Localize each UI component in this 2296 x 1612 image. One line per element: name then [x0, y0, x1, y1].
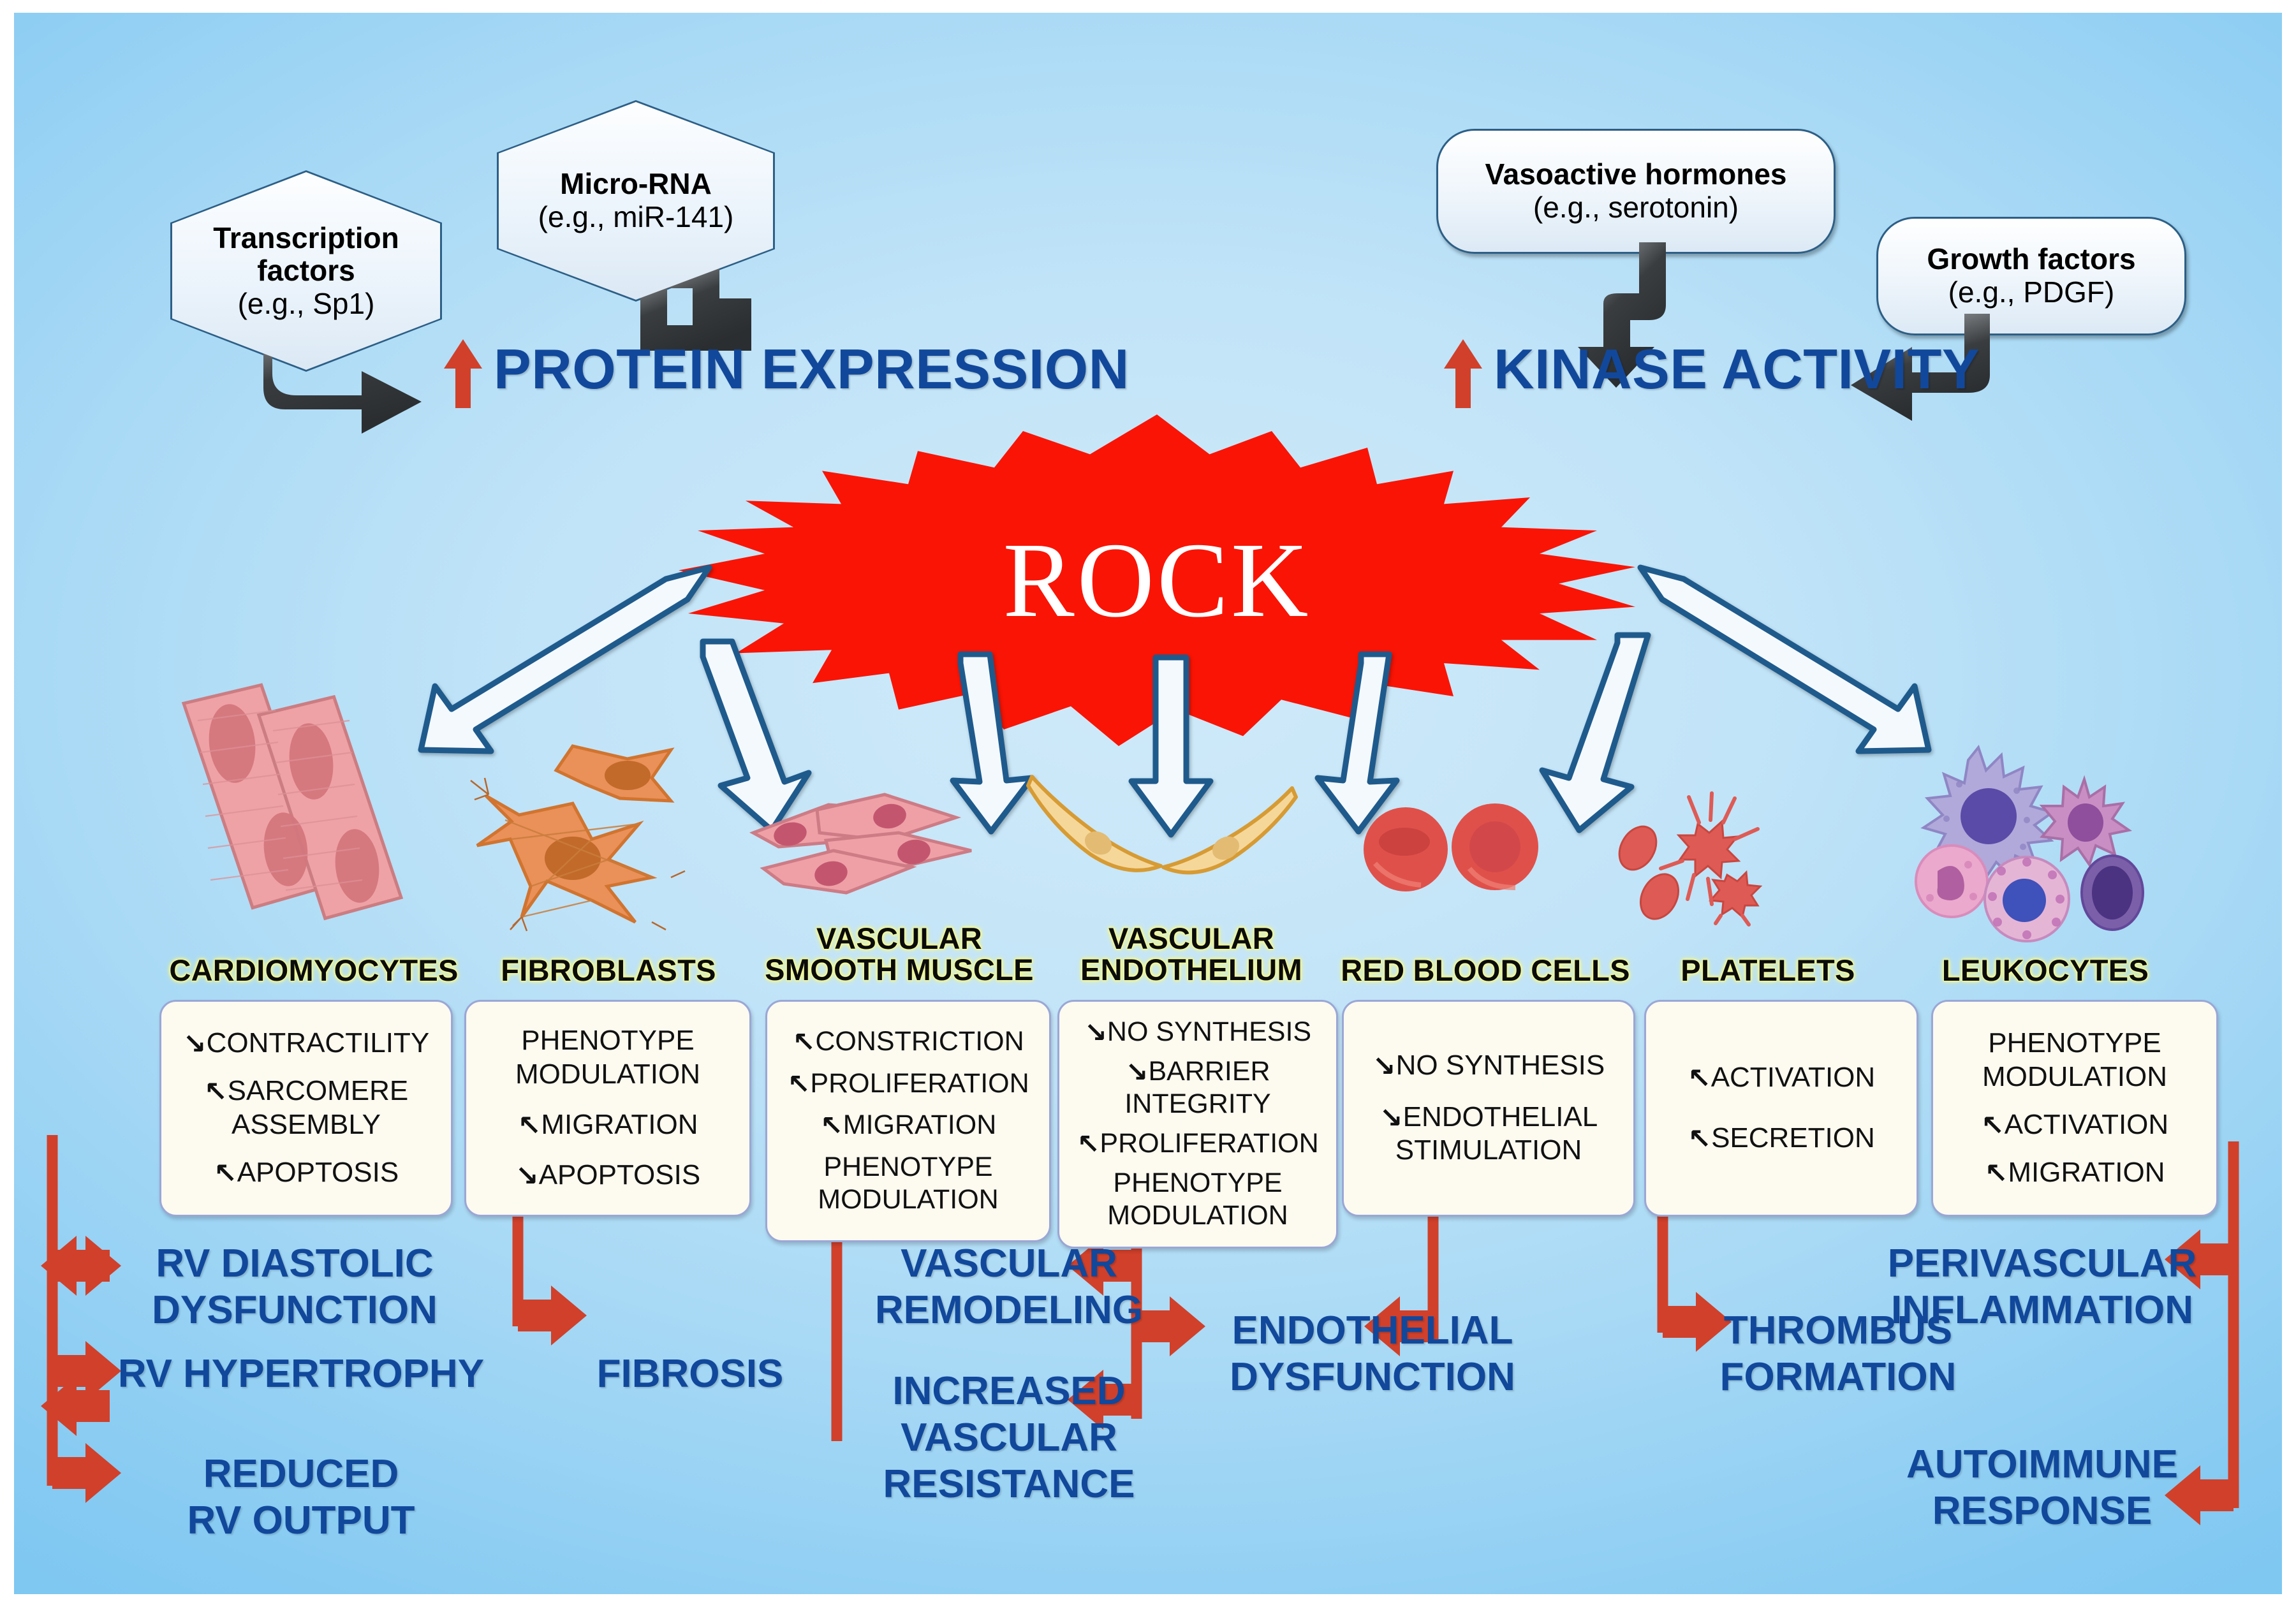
- red-blood-cells-illustration: [1360, 797, 1551, 905]
- effect-box-cardiomyocytes[interactable]: ↘CONTRACTILITY ↖SARCOMERE ASSEMBLY ↖APOP…: [159, 1000, 453, 1217]
- source-vasoactive-hormones[interactable]: Vasoactive hormones (e.g., serotonin): [1436, 129, 1836, 254]
- effect-item: ↘NO SYNTHESIS: [1372, 1049, 1605, 1083]
- effect-item: ↖PROLIFERATION: [787, 1067, 1029, 1101]
- figure-root: Transcription factors (e.g., Sp1) Micro-…: [0, 0, 2296, 1612]
- source-label-line1: Transcription: [213, 222, 399, 255]
- decrease-arrow-icon: ↘: [183, 1030, 207, 1059]
- increase-arrow-icon: ↖: [820, 1113, 843, 1140]
- effect-item: ↖MIGRATION: [1985, 1156, 2165, 1190]
- source-label-line2: (e.g., serotonin): [1533, 191, 1739, 224]
- decrease-arrow-icon: ↘: [1125, 1059, 1148, 1087]
- fibroblast-illustration: [460, 740, 690, 931]
- effect-box-vascular-endothelium[interactable]: ↘NO SYNTHESIS ↘BARRIER INTEGRITY ↖PROLIF…: [1057, 1000, 1338, 1249]
- effect-item: PHENOTYPE MODULATION: [1064, 1167, 1331, 1233]
- outcome-fibrosis: FIBROSIS: [569, 1351, 811, 1397]
- source-label-line2: factors: [257, 254, 355, 288]
- cell-label-vascular-smooth-muscle: VASCULAR SMOOTH MUSCLE: [759, 923, 1040, 986]
- effect-item: ↖MIGRATION: [820, 1109, 997, 1142]
- effect-item: ↖SARCOMERE ASSEMBLY: [166, 1074, 446, 1142]
- decrease-arrow-icon: ↘: [515, 1162, 539, 1191]
- increase-arrow-icon: ↖: [1985, 1160, 2008, 1188]
- effect-item: PHENOTYPE MODULATION: [471, 1024, 744, 1092]
- increase-arrow-icon: ↖: [787, 1071, 810, 1099]
- outcome-rv-hypertrophy: RV HYPERTROPHY: [110, 1351, 492, 1397]
- effect-box-red-blood-cells[interactable]: ↘NO SYNTHESIS ↘ENDOTHELIAL STIMULATION: [1342, 1000, 1635, 1217]
- increase-arrow-icon: ↖: [518, 1112, 541, 1140]
- diagram-panel: Transcription factors (e.g., Sp1) Micro-…: [14, 13, 2282, 1594]
- increase-arrow-icon: ↖: [1688, 1125, 1711, 1154]
- effect-item: ↖CONSTRICTION: [792, 1025, 1024, 1059]
- outcome-reduced-rv-output: REDUCED RV OUTPUT: [142, 1451, 460, 1544]
- effect-box-vascular-smooth-muscle[interactable]: ↖CONSTRICTION ↖PROLIFERATION ↖MIGRATION …: [765, 1000, 1051, 1242]
- source-label-line2: (e.g., miR-141): [538, 201, 734, 234]
- headline-protein-expression: PROTEIN EXPRESSION: [494, 337, 1130, 402]
- effect-item: ↘APOPTOSIS: [515, 1159, 700, 1192]
- effect-item: ↘CONTRACTILITY: [183, 1027, 429, 1060]
- decrease-arrow-icon: ↘: [1380, 1104, 1403, 1132]
- increase-arrow-icon: ↖: [792, 1029, 815, 1057]
- leukocytes-illustration: [1902, 740, 2170, 931]
- effect-item: ↖PROLIFERATION: [1077, 1127, 1318, 1161]
- increase-arrow-icon: ↖: [214, 1160, 237, 1188]
- cell-label-leukocytes: LEUKOCYTES: [1908, 955, 2182, 986]
- increase-arrow-icon: ↖: [1981, 1112, 2005, 1140]
- effect-box-platelets[interactable]: ↖ACTIVATION ↖SECRETION: [1644, 1000, 1918, 1217]
- source-label-line3: (e.g., Sp1): [238, 288, 375, 321]
- effect-box-fibroblasts[interactable]: PHENOTYPE MODULATION ↖MIGRATION ↘APOPTOS…: [464, 1000, 751, 1217]
- increase-arrow-kinase-activity: [1443, 339, 1483, 408]
- vascular-endothelium-illustration: [1015, 772, 1309, 899]
- rock-arrow-leukocytes: [1634, 562, 1940, 754]
- outcome-vascular-remodeling: VASCULAR REMODELING: [862, 1240, 1156, 1333]
- outcome-perivascular-inflammation: PERIVASCULAR INFLAMMATION: [1883, 1240, 2202, 1333]
- effect-item: ↘ENDOTHELIAL STIMULATION: [1349, 1101, 1628, 1168]
- effect-item: ↖ACTIVATION: [1688, 1061, 1875, 1095]
- increase-arrow-icon: ↖: [1688, 1065, 1711, 1093]
- source-label-line1: Growth factors: [1927, 243, 2135, 276]
- increase-arrow-icon: ↖: [1077, 1131, 1100, 1159]
- effect-item: PHENOTYPE MODULATION: [1938, 1027, 2211, 1094]
- increase-arrow-protein-expression: [443, 339, 483, 408]
- cardiomyocyte-illustration: [161, 682, 429, 937]
- outcome-increased-vascular-resistance: INCREASED VASCULAR RESISTANCE: [862, 1368, 1156, 1507]
- source-label-line1: Vasoactive hormones: [1485, 158, 1787, 191]
- effect-item: ↖SECRETION: [1688, 1122, 1875, 1155]
- cell-label-cardiomyocytes: CARDIOMYOCYTES: [167, 955, 460, 986]
- cell-label-fibroblasts: FIBROBLASTS: [468, 955, 749, 986]
- outcome-rv-diastolic-dysfunction: RV DIASTOLIC DYSFUNCTION: [129, 1240, 460, 1333]
- decrease-arrow-icon: ↘: [1372, 1053, 1396, 1081]
- outcome-autoimmune-response: AUTOIMMUNE RESPONSE: [1883, 1441, 2202, 1534]
- effect-box-leukocytes[interactable]: PHENOTYPE MODULATION ↖ACTIVATION ↖MIGRAT…: [1931, 1000, 2218, 1217]
- rock-label: ROCK: [1003, 519, 1311, 642]
- effect-item: PHENOTYPE MODULATION: [772, 1151, 1044, 1217]
- cell-label-vascular-endothelium: VASCULAR ENDOTHELIUM: [1051, 923, 1332, 986]
- platelets-illustration: [1602, 784, 1793, 925]
- outcome-endothelial-dysfunction: ENDOTHELIAL DYSFUNCTION: [1207, 1307, 1538, 1400]
- headline-kinase-activity: KINASE ACTIVITY: [1494, 337, 1980, 402]
- effect-item: ↖MIGRATION: [518, 1108, 698, 1142]
- cell-label-red-blood-cells: RED BLOOD CELLS: [1336, 955, 1635, 986]
- effect-item: ↖ACTIVATION: [1981, 1108, 2168, 1142]
- source-label-line1: Micro-RNA: [560, 168, 712, 201]
- decrease-arrow-icon: ↘: [1084, 1020, 1107, 1047]
- vascular-smooth-muscle-illustration: [751, 772, 1019, 925]
- effect-item: ↖APOPTOSIS: [214, 1156, 399, 1190]
- cell-label-platelets: PLATELETS: [1634, 955, 1902, 986]
- source-label-line2: (e.g., PDGF): [1948, 276, 2115, 309]
- effect-item: ↘NO SYNTHESIS: [1084, 1016, 1311, 1049]
- rock-arrow-cardiomyocytes: [409, 562, 716, 754]
- increase-arrow-icon: ↖: [204, 1078, 228, 1106]
- effect-item: ↘BARRIER INTEGRITY: [1064, 1055, 1331, 1121]
